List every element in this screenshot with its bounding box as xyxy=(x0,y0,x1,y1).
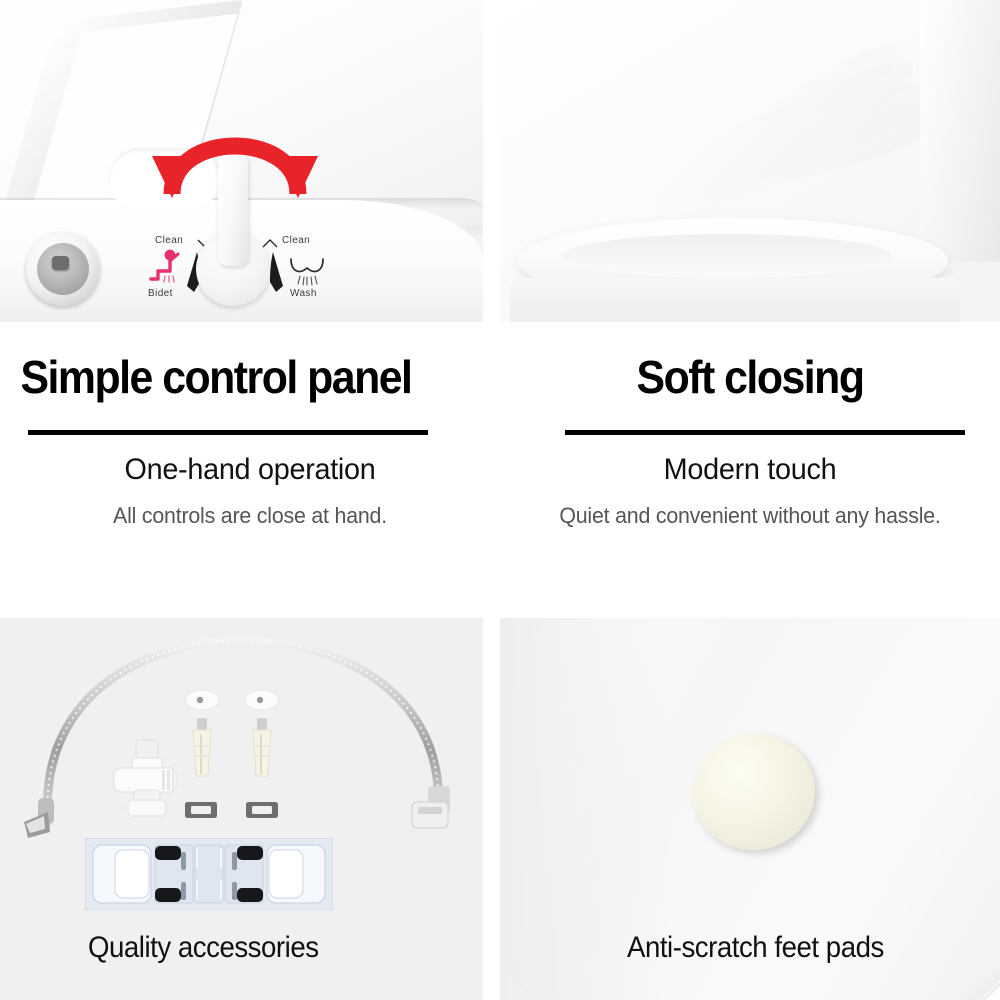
tick-mark-right-icon xyxy=(268,252,284,292)
feature-description: All controls are close at hand. xyxy=(8,502,493,530)
label-wash: Wash xyxy=(290,288,317,299)
mounting-bolt-right xyxy=(244,690,280,780)
wash-nozzle-icon xyxy=(288,255,326,287)
panel-gutter-vertical xyxy=(483,618,500,1000)
seat-backplate xyxy=(920,0,1000,262)
metal-washer-left xyxy=(184,801,218,819)
t-valve-adapter xyxy=(110,738,182,818)
page-title: Soft closing xyxy=(518,352,983,402)
feature-subhead: One-hand operation xyxy=(10,452,490,488)
label-bidet: Bidet xyxy=(148,288,173,299)
chevron-down-icon xyxy=(262,239,278,248)
feature-text-control-panel: Simple control panel One-hand operation … xyxy=(0,322,500,618)
feature-text-soft-closing: Soft closing Modern touch Quiet and conv… xyxy=(500,322,1000,618)
metal-washer-right xyxy=(245,801,279,819)
braided-water-hose xyxy=(8,626,478,846)
feature-description: Quiet and convenient without any hassle. xyxy=(508,502,993,530)
caption-quality-accessories: Quality accessories xyxy=(88,930,319,966)
feature-page: Clean Clean Bidet Wash xyxy=(0,0,1000,1000)
panel-gutter-horizontal xyxy=(0,600,1000,618)
caption-anti-scratch-feet-pads: Anti-scratch feet pads xyxy=(627,930,884,966)
bidet-person-icon xyxy=(148,248,182,288)
label-clean-right: Clean xyxy=(282,235,310,246)
page-title: Simple control panel xyxy=(0,352,465,402)
title-rule xyxy=(565,430,965,435)
dial-knob-icon[interactable] xyxy=(26,232,100,306)
mounting-bolt-left xyxy=(184,690,220,780)
rotate-arrow-icon xyxy=(142,104,328,200)
toilet-bowl xyxy=(510,278,960,322)
panel-gutter-vertical xyxy=(483,0,500,322)
feature-text-band: Simple control panel One-hand operation … xyxy=(0,322,1000,618)
soft-closing-photo xyxy=(500,0,1000,322)
control-panel-photo: Clean Clean Bidet Wash xyxy=(0,0,483,322)
mounting-template-plate xyxy=(85,838,333,910)
label-clean-left: Clean xyxy=(155,235,183,246)
feature-subhead: Modern touch xyxy=(510,452,990,488)
title-rule xyxy=(28,430,428,435)
